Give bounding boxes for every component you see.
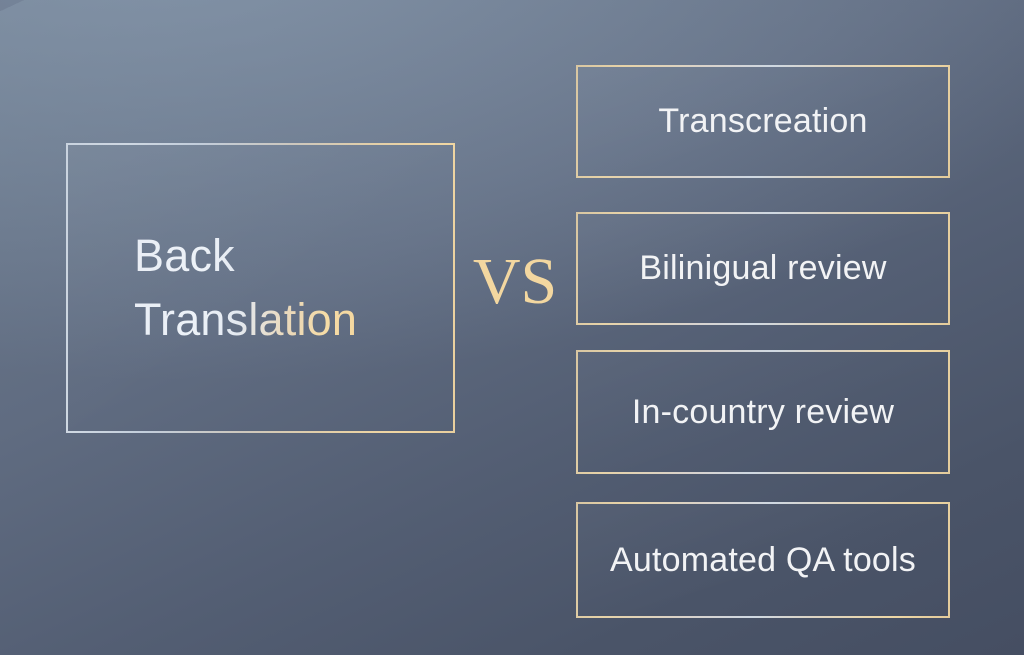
option-label-transcreation: Transcreation: [658, 102, 867, 141]
option-label-in-country-review: In-country review: [632, 393, 894, 432]
option-box-transcreation[interactable]: Transcreation: [576, 65, 950, 178]
option-label-bilingual-review: Bilinigual review: [639, 249, 886, 288]
slide-canvas: Back Translation VS Transcreation Bilini…: [0, 0, 1024, 655]
option-box-bilingual-review[interactable]: Bilinigual review: [576, 212, 950, 325]
back-translation-box[interactable]: Back Translation: [66, 143, 455, 433]
option-box-in-country-review[interactable]: In-country review: [576, 350, 950, 474]
versus-label: VS: [465, 249, 565, 315]
option-box-automated-qa-tools[interactable]: Automated QA tools: [576, 502, 950, 618]
option-label-automated-qa-tools: Automated QA tools: [610, 541, 916, 580]
back-translation-label: Back Translation: [134, 224, 357, 352]
